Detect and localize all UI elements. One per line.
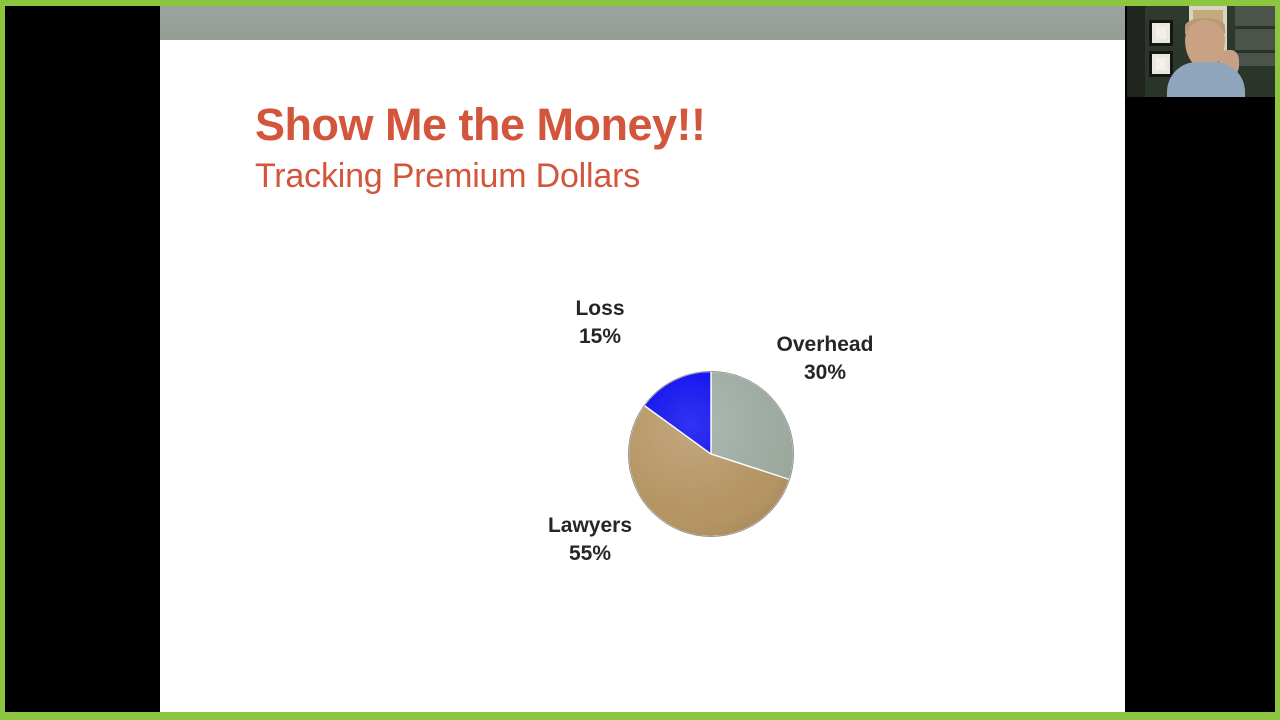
- webcam-picture-frame-1: [1149, 20, 1173, 46]
- pie-label-overhead-name: Overhead: [777, 333, 874, 356]
- presentation-slide: Show Me the Money!! Tracking Premium Dol…: [160, 6, 1125, 712]
- slide-title: Show Me the Money!!: [255, 99, 706, 151]
- pie-label-loss-name: Loss: [575, 297, 624, 320]
- webcam-picture-art-1: [1156, 27, 1166, 39]
- slide-subtitle: Tracking Premium Dollars: [255, 157, 640, 196]
- viewer-frame: Show Me the Money!! Tracking Premium Dol…: [0, 0, 1280, 720]
- pie-label-lawyers-name: Lawyers: [548, 514, 632, 537]
- pie-label-lawyers-percent: 55%: [500, 540, 680, 568]
- pie-label-overhead: Overhead 30%: [735, 331, 915, 386]
- webcam-scene: [1127, 6, 1275, 97]
- slide-header-bar: [160, 6, 1125, 40]
- presenter-webcam-video[interactable]: [1127, 6, 1275, 97]
- pie-label-overhead-percent: 30%: [735, 359, 915, 387]
- webcam-shelf-line-2: [1235, 50, 1275, 53]
- pie-label-loss: Loss 15%: [540, 295, 660, 350]
- webcam-wall-left: [1127, 6, 1145, 97]
- webcam-person-torso: [1167, 62, 1245, 97]
- pie-chart: Loss 15% Overhead 30% Lawyers 55%: [490, 295, 890, 605]
- video-stage: Show Me the Money!! Tracking Premium Dol…: [5, 6, 1275, 712]
- webcam-bookshelf: [1235, 6, 1275, 66]
- pie-label-loss-percent: 15%: [540, 323, 660, 351]
- webcam-shelf-line-1: [1235, 26, 1275, 29]
- webcam-picture-art-2: [1156, 58, 1166, 70]
- pie-label-lawyers: Lawyers 55%: [500, 512, 680, 567]
- webcam-picture-frame-2: [1149, 51, 1173, 77]
- slide-body: Show Me the Money!! Tracking Premium Dol…: [160, 40, 1125, 712]
